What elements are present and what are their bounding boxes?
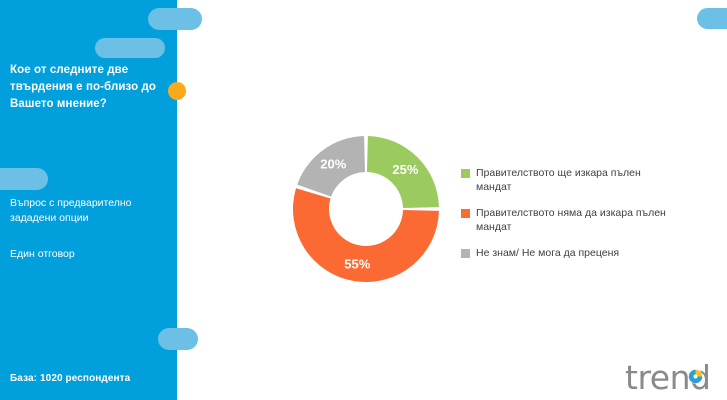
legend-swatch-icon: [461, 169, 470, 178]
donut-slice-label: 25%: [392, 162, 418, 177]
decorative-pill-upper-left: [95, 38, 165, 58]
legend-item-label: Правителството ще изкара пълен мандат: [476, 166, 676, 194]
donut-chart-svg: 25%55%20%: [285, 128, 447, 290]
legend-item-label: Не знам/ Не мога да преценя: [476, 246, 619, 260]
question-title: Кое от следните две твърдения е по-близо…: [10, 62, 165, 113]
decorative-pill-bottom: [158, 328, 198, 350]
decorative-pill-top-right: [697, 8, 727, 29]
decorative-pill-top: [148, 8, 202, 30]
donut-slice-label: 55%: [344, 257, 370, 272]
legend-item[interactable]: Не знам/ Не мога да преценя: [461, 246, 691, 260]
decorative-dot-orange: [168, 82, 186, 100]
donut-chart: 25%55%20%: [285, 128, 447, 290]
base-label: База:: [10, 373, 37, 384]
pie-chart-mark-icon: [688, 369, 703, 384]
legend-swatch-icon: [461, 209, 470, 218]
legend-item[interactable]: Правителството няма да изкара пълен манд…: [461, 206, 691, 234]
slide-canvas: Кое от следните две твърдения е по-близо…: [0, 0, 727, 400]
legend-item-label: Правителството няма да изкара пълен манд…: [476, 206, 676, 234]
legend-item[interactable]: Правителството ще изкара пълен мандат: [461, 166, 691, 194]
donut-slice-label: 20%: [320, 156, 346, 171]
decorative-pill-left-edge: [0, 168, 48, 190]
legend-swatch-icon: [461, 249, 470, 258]
chart-legend: Правителството ще изкара пълен мандат Пр…: [461, 166, 691, 260]
question-type-label: Въпрос с предварително зададени опции: [10, 196, 168, 226]
base-value: 1020 респондента: [40, 373, 130, 384]
base-row: База: 1020 респондента: [10, 373, 175, 384]
answer-mode-label: Един отговор: [10, 247, 168, 262]
trend-logo: trend: [625, 358, 721, 394]
